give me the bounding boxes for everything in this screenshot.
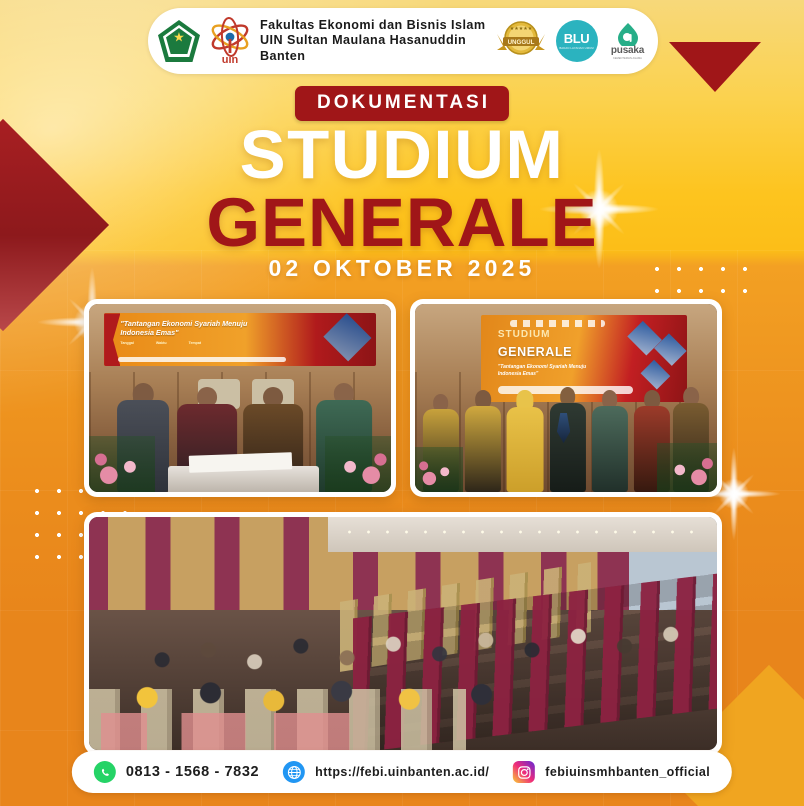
poster-canvas: ★ uin Fakultas Ekonomi dan Bisnis Islam … <box>0 0 804 806</box>
photo1-banner-line2: Indonesia Emas" <box>120 328 247 338</box>
pusaka-logo-subtext: KEMENTERIAN AGAMA <box>613 57 642 60</box>
photo1-field-tempat: Tempat <box>189 341 202 345</box>
title-studium: STUDIUM <box>240 120 565 189</box>
institution-name: Fakultas Ekonomi dan Bisnis Islam UIN Su… <box>260 18 486 64</box>
unggul-badge-text: UNGGUL <box>507 39 534 46</box>
photo1-banner-line1: "Tantangan Ekonomi Syariah Menuju <box>120 319 247 329</box>
photo2-screen-sub-1: "Tantangan Ekonomi Syariah Menuju <box>498 364 586 371</box>
photo-signing-ceremony: "Tantangan Ekonomi Syariah Menuju Indone… <box>84 299 396 497</box>
photo1-field-waktu: Waktu <box>156 341 167 345</box>
photo2-screen-title-top: STUDIUM <box>498 329 551 340</box>
institution-line-3: Banten <box>260 49 486 64</box>
photo2-person-2 <box>463 390 502 492</box>
photo2-person-5 <box>590 390 629 492</box>
globe-icon[interactable] <box>283 761 305 783</box>
kemenag-logo: ★ <box>158 20 200 62</box>
photo2-person-4 <box>548 387 587 492</box>
blu-logo-subtext: BADAN LAYANAN UMUM <box>559 46 593 50</box>
phone-number[interactable]: 0813 - 1568 - 7832 <box>126 764 259 780</box>
red-triangle-decoration <box>669 42 761 92</box>
unggul-badge: ★★★★★ UNGGUL <box>493 18 549 64</box>
photo2-person-3 <box>506 390 545 492</box>
instagram-icon[interactable] <box>513 761 535 783</box>
svg-text:uin: uin <box>222 54 239 65</box>
photo-audience-auditorium <box>84 512 722 755</box>
svg-text:★★★★★: ★★★★★ <box>509 26 532 32</box>
website-url[interactable]: https://febi.uinbanten.ac.id/ <box>315 765 489 779</box>
title-generale: GENERALE <box>206 188 597 257</box>
whatsapp-icon[interactable] <box>94 761 116 783</box>
event-date: 02 OKTOBER 2025 <box>268 255 535 282</box>
uin-logo: uin <box>207 17 253 65</box>
blu-logo: BLU BADAN LAYANAN UMUM <box>556 20 598 62</box>
institution-line-1: Fakultas Ekonomi dan Bisnis Islam <box>260 18 486 33</box>
photo1-field-tanggal: Tanggal <box>120 341 134 345</box>
photo1-stage-banner: "Tantangan Ekonomi Syariah Menuju Indone… <box>104 313 376 366</box>
blu-logo-text: BLU <box>564 32 590 45</box>
photo2-screen-sub-2: Indonesia Emas" <box>498 371 586 378</box>
header-logo-bar: ★ uin Fakultas Ekonomi dan Bisnis Islam … <box>148 8 658 74</box>
photo2-screen-title-bottom: GENERALE <box>498 345 572 359</box>
photo-group-award: STUDIUM GENERALE "Tantangan Ekonomi Syar… <box>410 299 722 497</box>
instagram-handle[interactable]: febiuinsmhbanten_official <box>545 765 710 779</box>
pusaka-logo-text: pusaka <box>611 46 644 56</box>
institution-line-2: UIN Sultan Maulana Hasanuddin <box>260 33 486 48</box>
contact-bar: 0813 - 1568 - 7832 https://febi.uinbante… <box>72 751 732 793</box>
pusaka-logo: pusaka KEMENTERIAN AGAMA <box>605 17 651 65</box>
